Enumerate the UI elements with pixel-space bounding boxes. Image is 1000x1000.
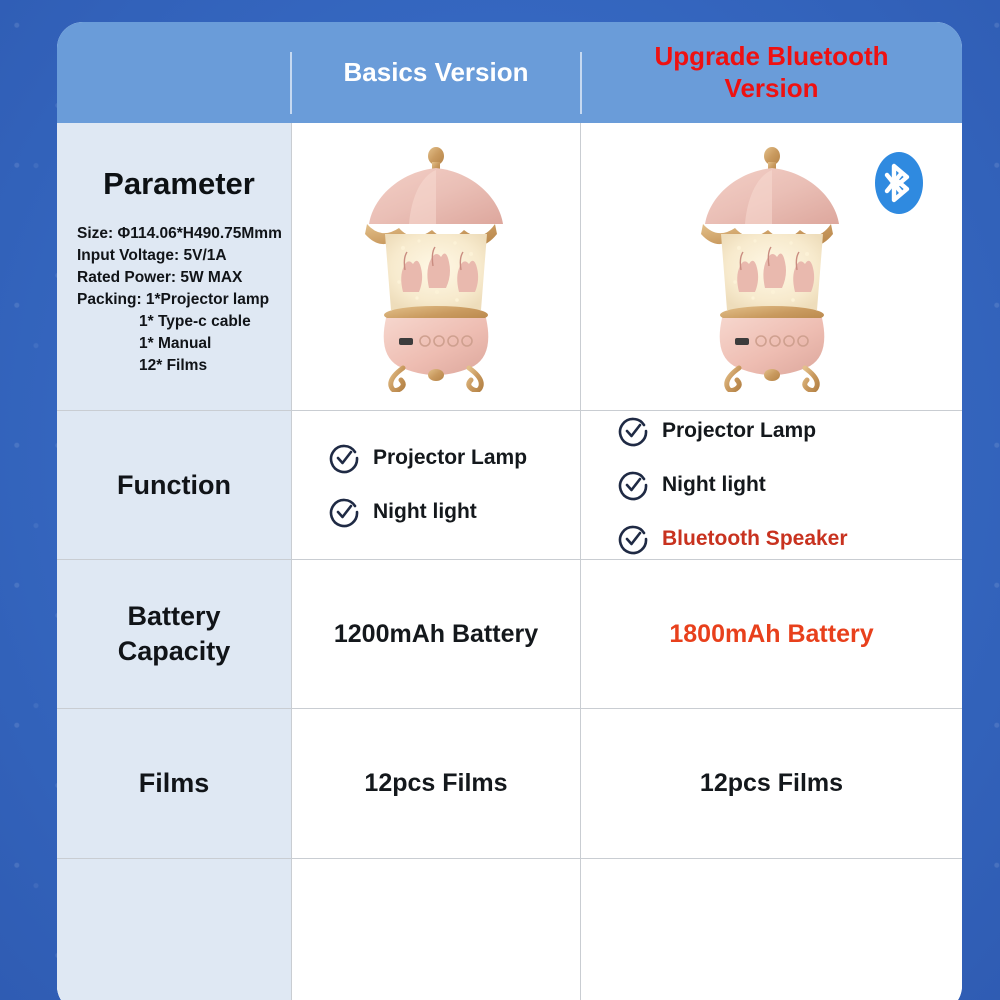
battery-label-line1: Battery [127,599,220,634]
table-header: Basics Version Upgrade Bluetooth Version [57,22,962,123]
basics-product-image-cell [291,123,581,410]
param-packing-cable: 1* Type-c cable [77,311,281,333]
param-packing-manual: 1* Manual [77,333,281,355]
check-circle-icon [328,496,360,528]
param-rated-power: Rated Power: 5W MAX [77,267,281,289]
feature-item: Night light [581,469,962,501]
param-input-voltage: Input Voltage: 5V/1A [77,245,281,267]
feature-label: Bluetooth Speaker [662,527,848,551]
bluetooth-icon [874,151,924,215]
param-packing: Packing: 1*Projector lamp [77,289,281,311]
basics-partial-cell [291,859,581,1000]
feature-label: Night light [662,473,766,497]
upgrade-battery-cell: 1800mAh Battery [581,560,962,708]
table-row-partial [57,859,962,1000]
battery-label-line2: Capacity [118,634,231,669]
upgrade-battery-value: 1800mAh Battery [581,620,962,649]
header-label-column [57,22,291,123]
basics-function-cell: Projector Lamp Night light [291,411,581,559]
param-size: Size: Φ114.06*H490.75Mmm [77,223,281,245]
check-circle-icon [617,415,649,447]
upgrade-films-cell: 12pcs Films [581,709,962,858]
header-divider-1 [290,52,292,114]
table-row-films: Films 12pcs Films 12pcs Films [57,709,962,859]
feature-label: Night light [373,500,477,524]
basics-films-cell: 12pcs Films [291,709,581,858]
feature-item: Projector Lamp [292,442,580,474]
header-upgrade-bluetooth-version: Upgrade Bluetooth Version [581,22,962,123]
check-circle-icon [328,442,360,474]
row-label-battery-capacity: Battery Capacity [57,560,291,708]
page-background: Basics Version Upgrade Bluetooth Version… [0,0,1000,1000]
upgrade-partial-cell [581,859,962,1000]
table-body: Parameter Size: Φ114.06*H490.75Mmm Input… [57,123,962,1000]
feature-item: Projector Lamp [581,415,962,447]
basics-battery-cell: 1200mAh Battery [291,560,581,708]
carousel-projector-lamp-icon [677,142,867,392]
upgrade-product-image-cell [581,123,962,410]
carousel-projector-lamp-icon [341,142,531,392]
comparison-table-card: Basics Version Upgrade Bluetooth Version… [57,22,962,1000]
header-divider-2 [580,52,582,114]
row-label-films: Films [57,709,291,858]
row-label-function: Function [57,411,291,559]
check-circle-icon [617,469,649,501]
feature-item: Night light [292,496,580,528]
feature-item-highlight: Bluetooth Speaker [581,523,962,555]
upgrade-function-cell: Projector Lamp Night light [581,411,962,559]
feature-label: Projector Lamp [662,419,816,443]
row-label-partial [57,859,291,1000]
table-row-function: Function Projector Lamp [57,411,962,560]
basics-films-value: 12pcs Films [292,769,580,798]
upgrade-films-value: 12pcs Films [581,769,962,798]
param-packing-films: 12* Films [77,355,281,377]
row-label-parameter-cell: Parameter Size: Φ114.06*H490.75Mmm Input… [57,123,291,410]
table-row-battery-capacity: Battery Capacity 1200mAh Battery 1800mAh… [57,560,962,709]
basics-battery-value: 1200mAh Battery [292,620,580,649]
feature-label: Projector Lamp [373,446,527,470]
parameter-title: Parameter [77,164,281,204]
table-row-parameter: Parameter Size: Φ114.06*H490.75Mmm Input… [57,123,962,411]
check-circle-icon [617,523,649,555]
parameter-spec-box: Parameter Size: Φ114.06*H490.75Mmm Input… [57,146,291,388]
header-basics-version: Basics Version [291,22,581,123]
